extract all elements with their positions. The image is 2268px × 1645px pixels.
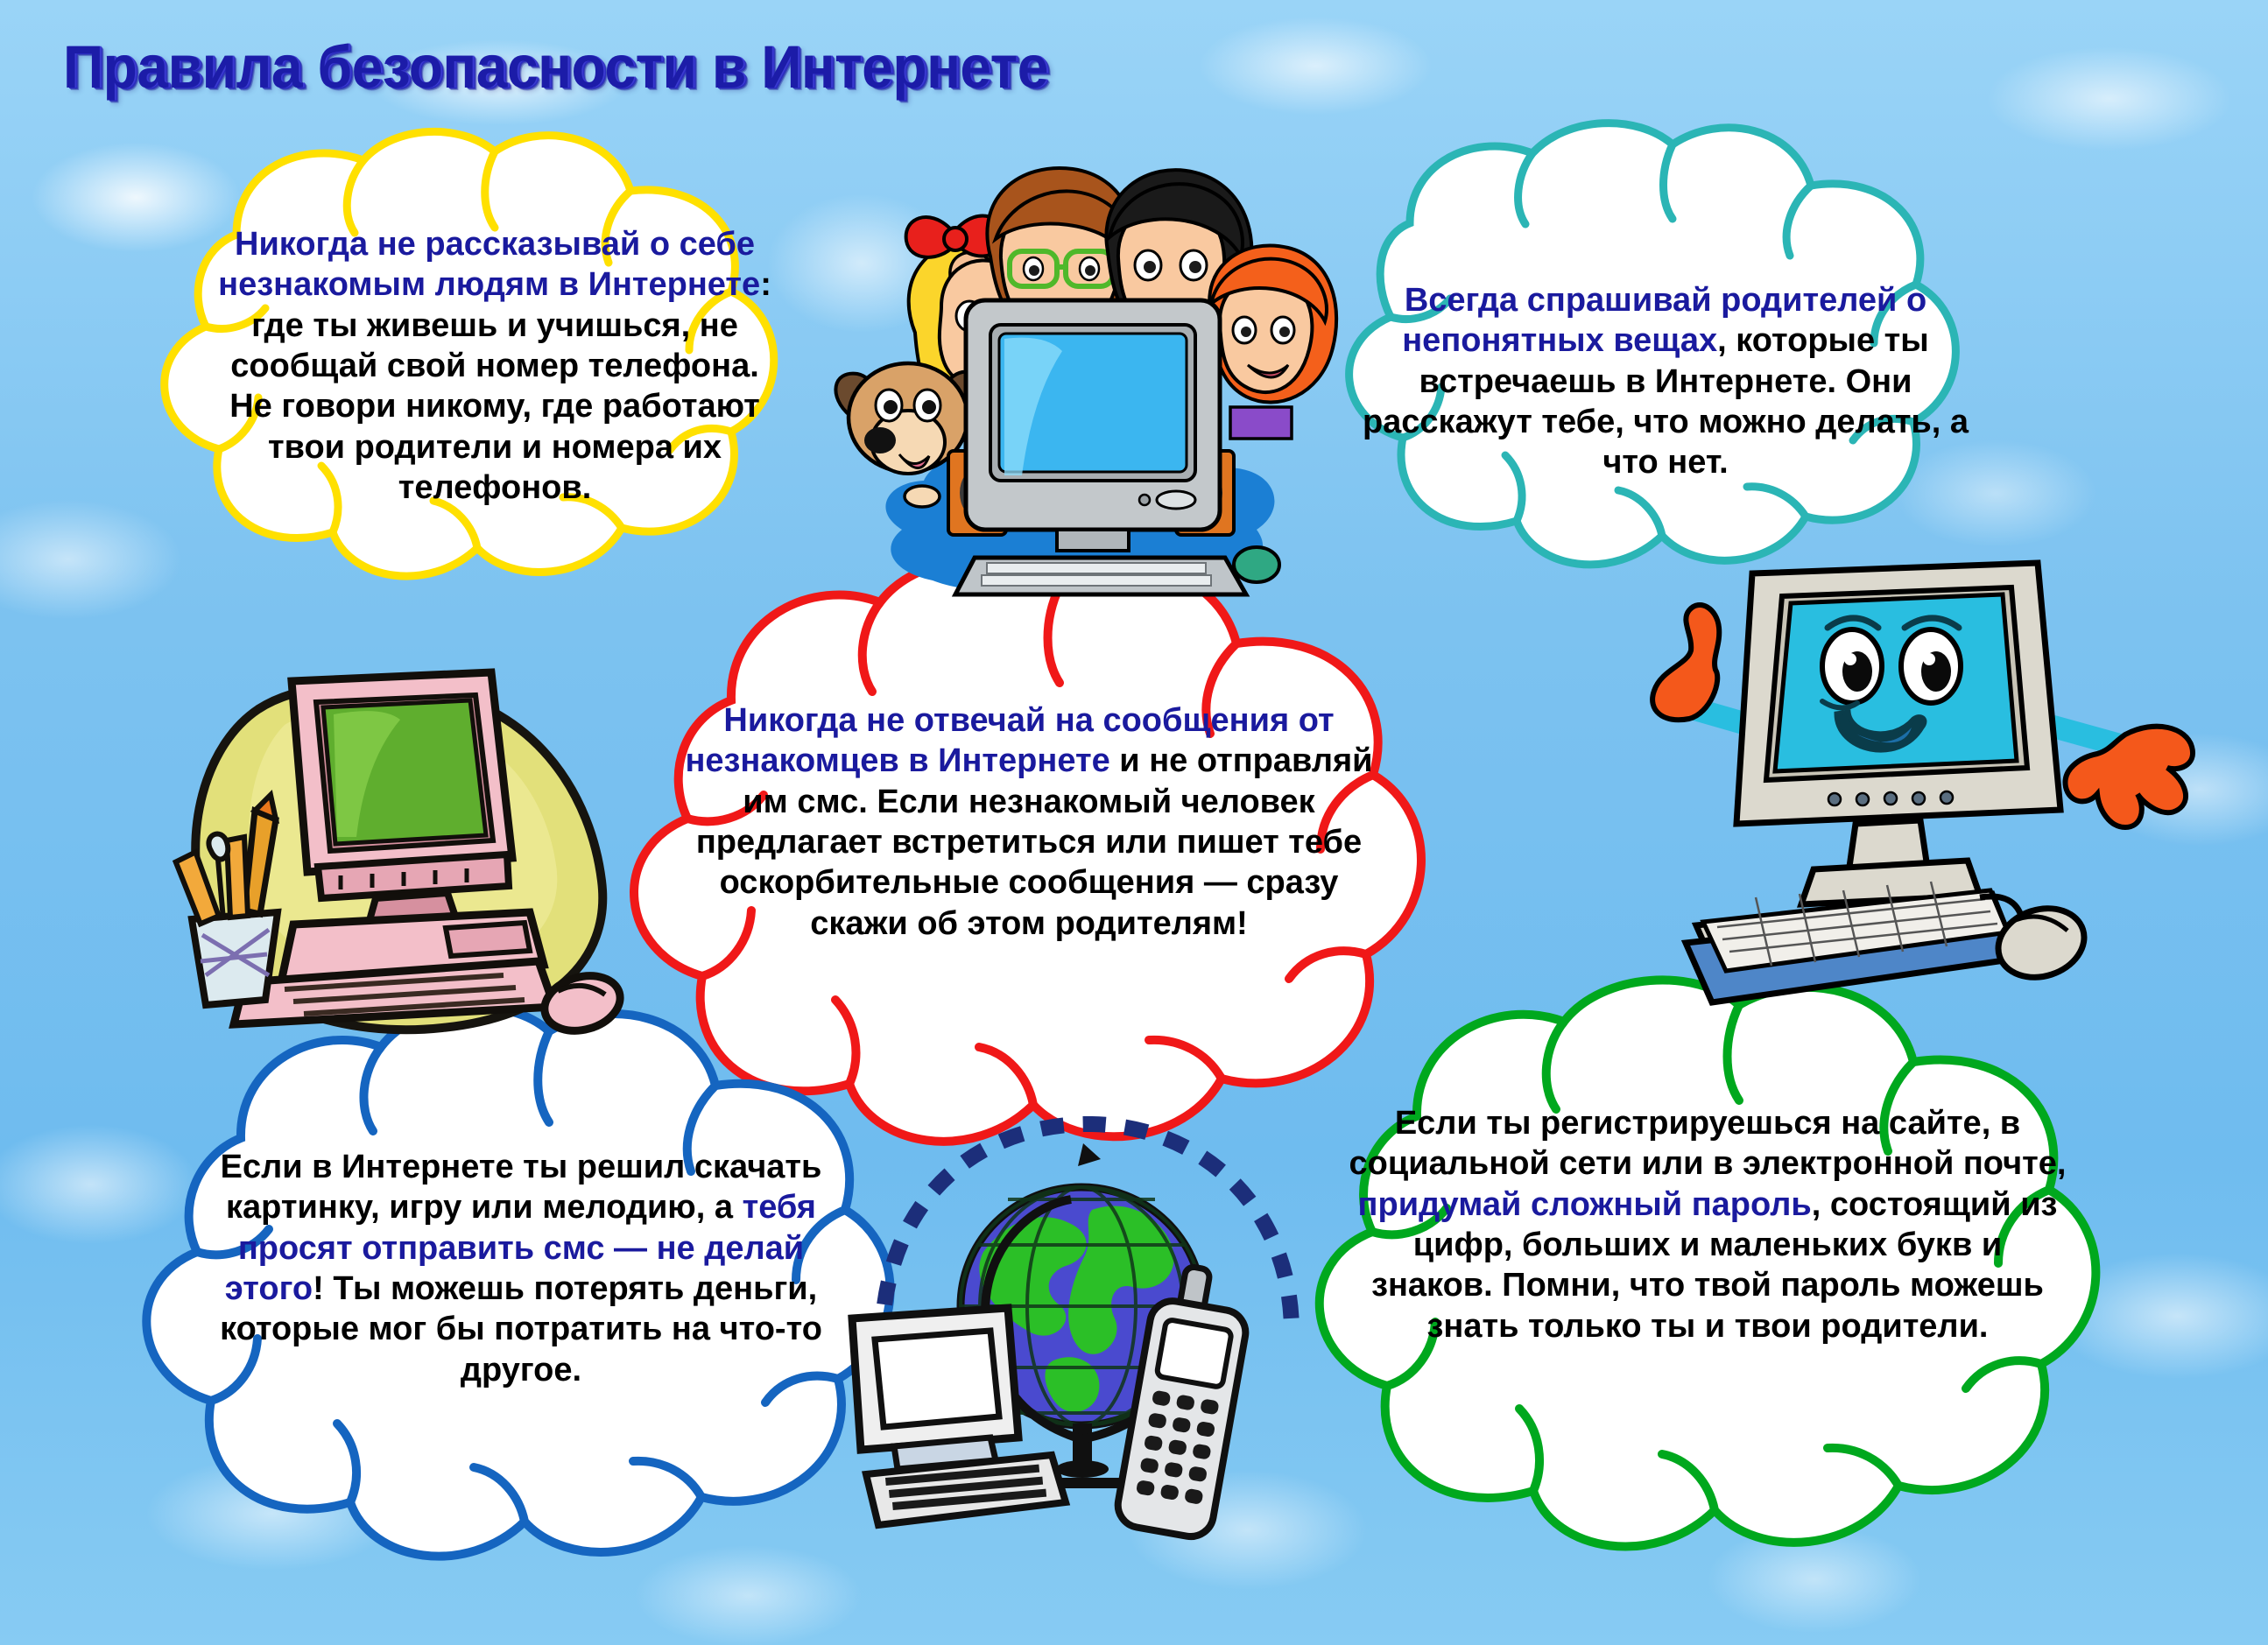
- poster-canvas: Правила безопасности в Интернете Никогда…: [0, 0, 2268, 1645]
- kids-computer-graphic: [819, 153, 1344, 617]
- cloud-text-downloads-sms: Если в Интернете ты решил скачать картин…: [188, 1147, 854, 1390]
- illustration-computer-mascot: [1642, 547, 2211, 1046]
- cloud-ask-parents: Всегда спрашивай родителей о непонятных …: [1270, 123, 2032, 587]
- illustration-kids-at-computer: [819, 153, 1344, 617]
- power-button: [1157, 491, 1195, 509]
- body-text-pre: Если в Интернете ты решил скачать картин…: [221, 1149, 822, 1226]
- cloud-downloads-sms: Если в Интернете ты решил скачать картин…: [83, 1007, 924, 1620]
- cloud-text-ask-parents: Всегда спрашивай родителей о непонятных …: [1350, 280, 1981, 483]
- phone-screen: [1157, 1319, 1232, 1388]
- cloud-personal-info: Никогда не рассказывай о себе незнакомым…: [83, 130, 845, 602]
- globe-devices-graphic: [836, 1112, 1335, 1567]
- highlight-text: придумай сложный пароль: [1358, 1186, 1812, 1223]
- mascot-head: [1736, 563, 2060, 824]
- computer-mascot-graphic: [1642, 547, 2211, 1046]
- highlight-text: Никогда не рассказывай о себе незнакомым…: [218, 226, 760, 303]
- mouse: [1234, 547, 1279, 582]
- orbit-arrow-top: [1078, 1143, 1101, 1166]
- cloud-text-personal-info: Никогда не рассказывай о себе незнакомым…: [215, 224, 775, 509]
- thumbs-up-glove: [1652, 605, 1719, 720]
- pink-computer-graphic: [153, 657, 644, 1068]
- cloud-strong-password: Если ты регистрируешься на сайте, в соци…: [1252, 981, 2137, 1611]
- illustration-globe-devices: [836, 1112, 1335, 1567]
- page-title: Правила безопасности в Интернете: [63, 37, 1048, 97]
- pink-monitor: [292, 672, 512, 930]
- body-text-pre: Если ты регистрируешься на сайте, в соци…: [1349, 1105, 2067, 1182]
- child-redhead-girl: [1209, 245, 1336, 439]
- cloud-text-strong-password: Если ты регистрируешься на сайте, в соци…: [1349, 1103, 2067, 1346]
- cloud-text-stranger-messages: Никогда не отвечай на сообщения от незна…: [674, 700, 1384, 944]
- illustration-pink-computer: [153, 657, 644, 1068]
